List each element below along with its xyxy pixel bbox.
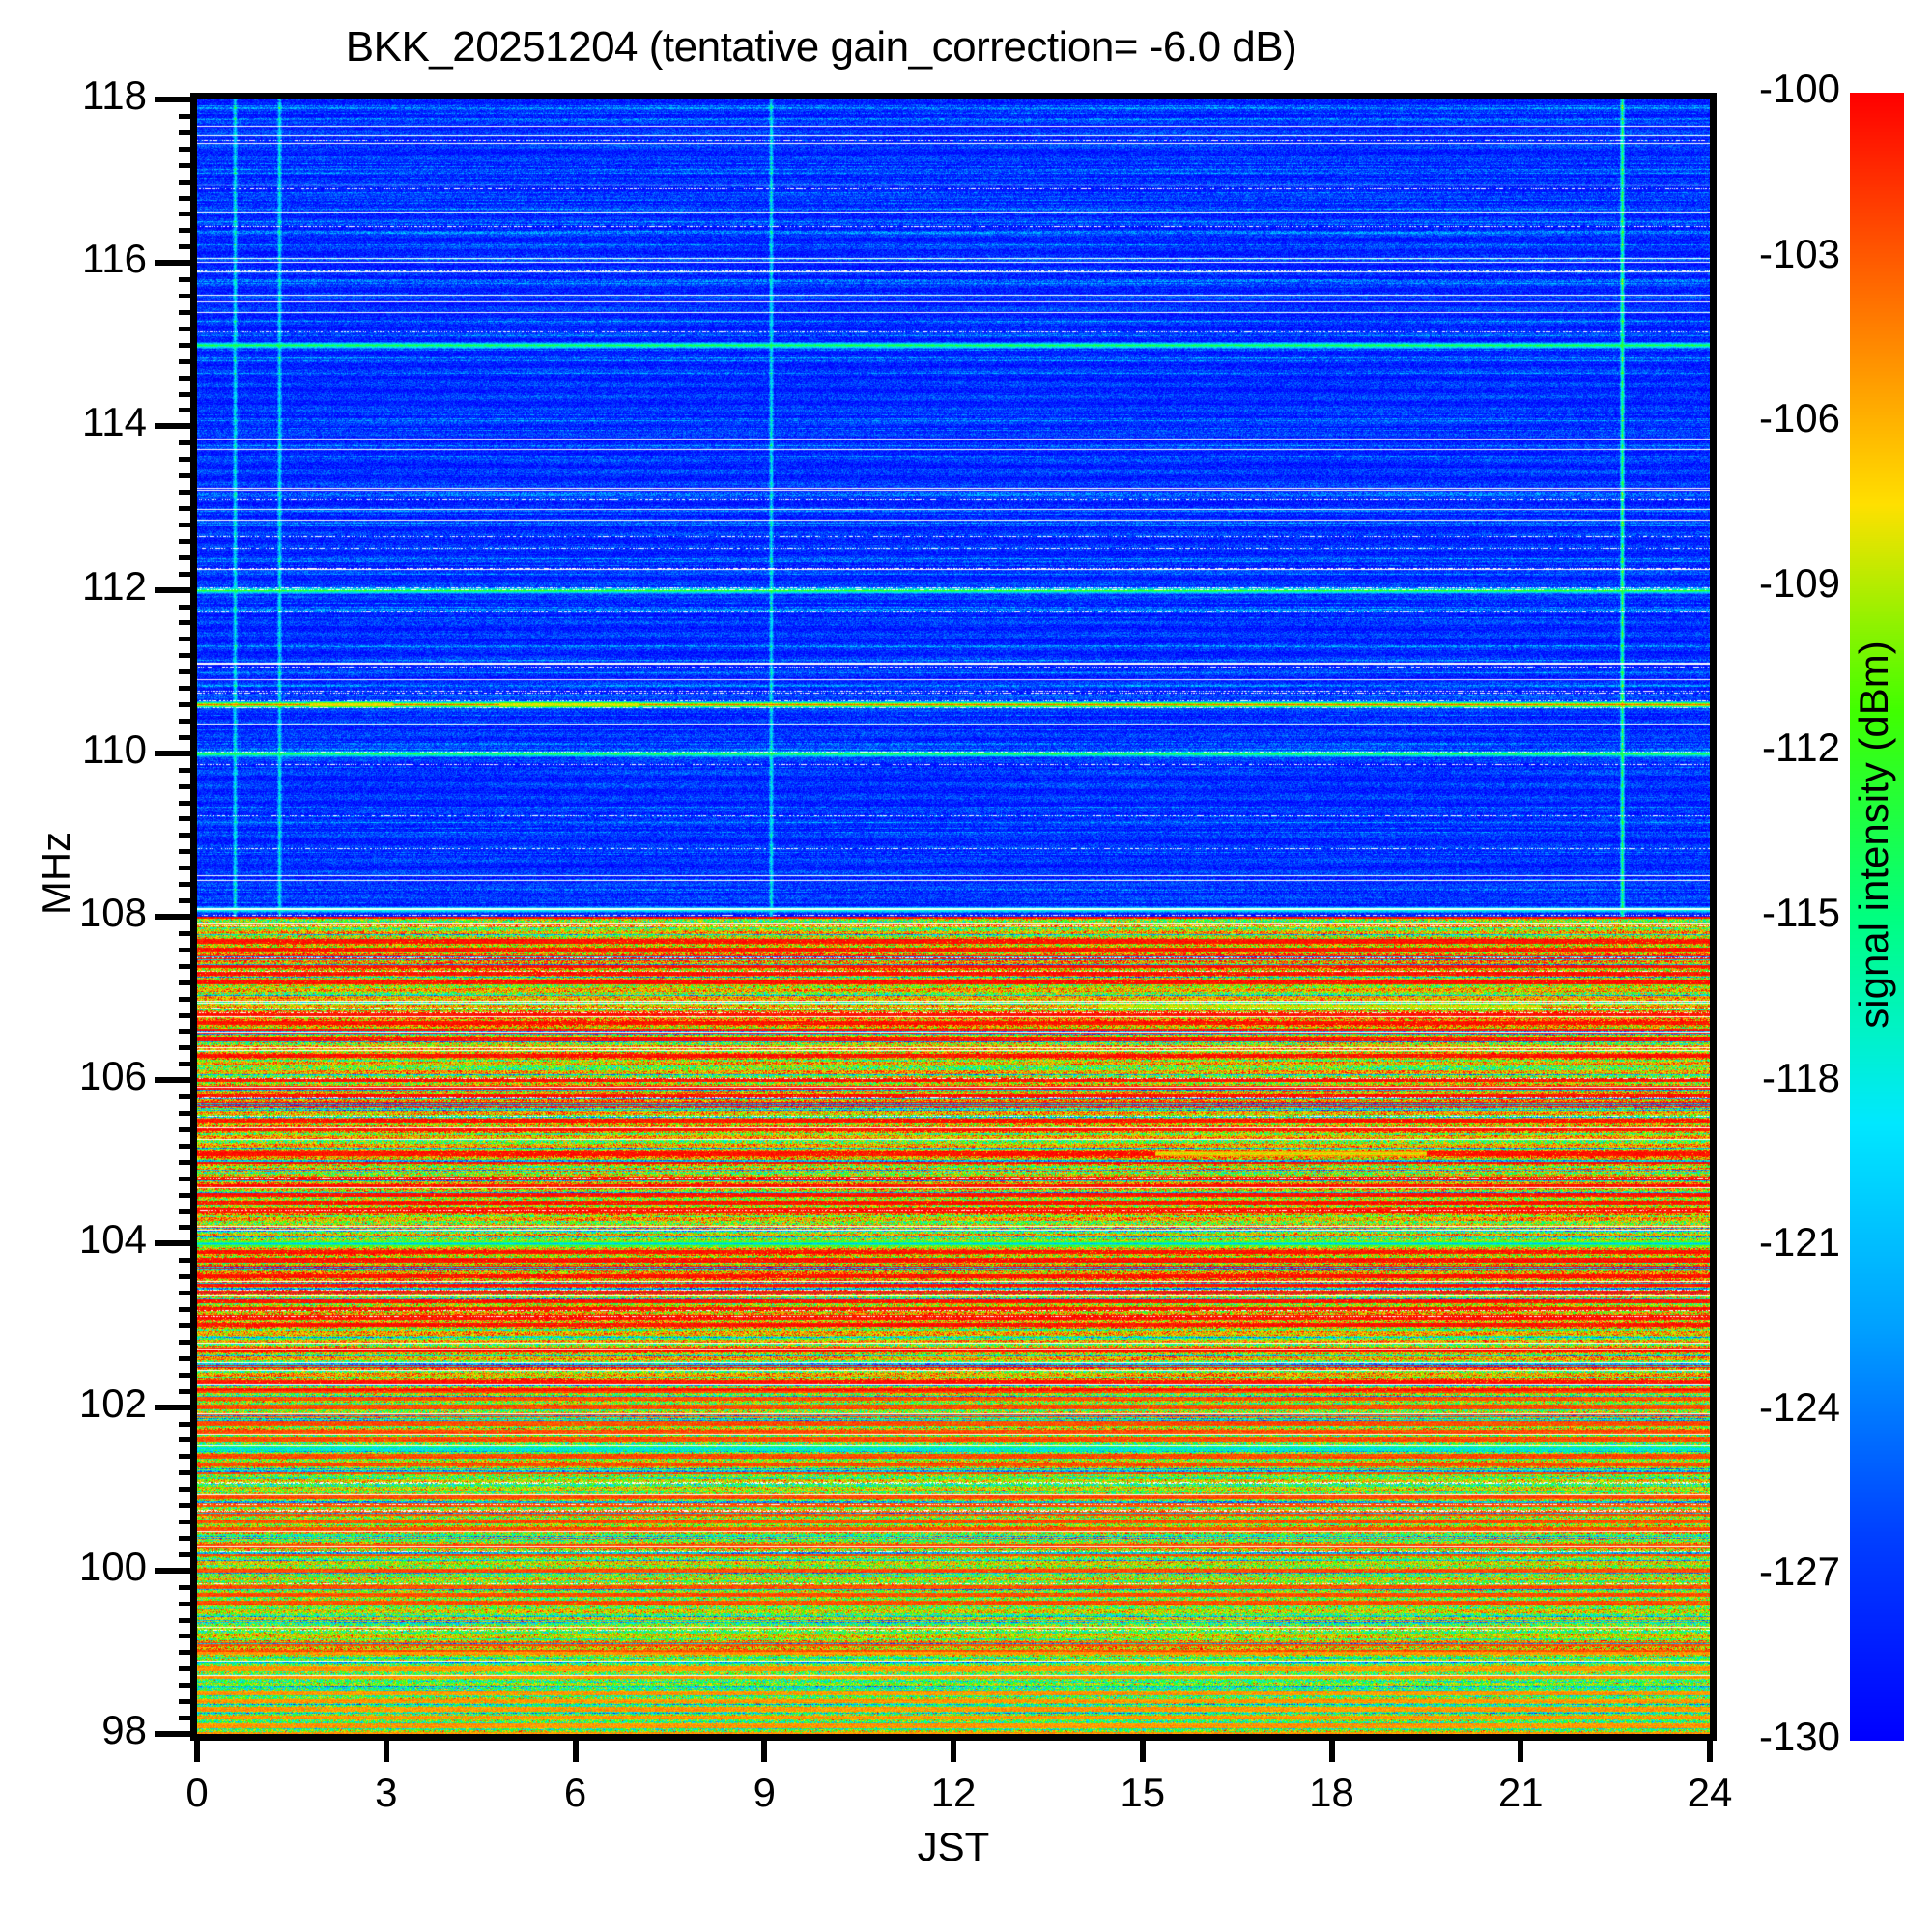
x-tick-label: 6 [498,1770,653,1816]
y-minor-tick-mark [179,327,197,331]
y-minor-tick-mark [179,866,197,870]
y-minor-tick-mark [179,833,197,838]
y-minor-tick-mark [179,1193,197,1198]
colorbar-tick-label: -106 [1657,395,1840,441]
y-minor-tick-mark [179,1454,197,1459]
x-tick-label: 3 [309,1770,464,1816]
y-minor-tick-mark [179,392,197,397]
x-tick-mark [194,1735,200,1762]
y-minor-tick-mark [179,849,197,854]
y-tick-mark [155,751,197,756]
y-minor-tick-mark [179,490,197,495]
y-minor-tick-mark [179,457,197,462]
y-tick-label: 110 [0,726,147,773]
y-minor-tick-mark [179,1716,197,1720]
y-minor-tick-mark [179,768,197,773]
x-tick-mark [1329,1735,1335,1762]
y-minor-tick-mark [179,1274,197,1279]
y-minor-tick-mark [179,473,197,478]
y-minor-tick-mark [179,964,197,969]
x-tick-mark [573,1735,579,1762]
y-minor-tick-mark [179,1225,197,1230]
y-minor-tick-mark [179,948,197,952]
y-minor-tick-mark [179,1291,197,1295]
y-minor-tick-mark [179,408,197,412]
y-minor-tick-mark [179,1618,197,1623]
y-minor-tick-mark [179,163,197,168]
x-tick-label: 0 [120,1770,274,1816]
y-minor-tick-mark [179,1062,197,1066]
y-minor-tick-mark [179,359,197,364]
y-tick-mark [155,1240,197,1246]
y-tick-label: 98 [0,1707,147,1753]
colorbar-tick-label: -103 [1657,231,1840,277]
y-minor-tick-mark [179,931,197,936]
y-minor-tick-mark [179,735,197,740]
y-minor-tick-mark [179,1111,197,1116]
spectrogram-plot-area[interactable] [190,93,1717,1741]
y-minor-tick-mark [179,1602,197,1606]
y-minor-tick-mark [179,1520,197,1524]
y-minor-tick-mark [179,653,197,658]
y-minor-tick-mark [179,1699,197,1704]
colorbar-tick-label: -100 [1657,66,1840,112]
colorbar-tick-label: -118 [1657,1055,1840,1101]
y-minor-tick-mark [179,539,197,544]
y-tick-mark [155,1077,197,1083]
y-minor-tick-mark [179,1683,197,1688]
y-minor-tick-mark [179,212,197,216]
y-minor-tick-mark [179,1503,197,1508]
y-minor-tick-mark [179,1094,197,1099]
colorbar-tick-label: -130 [1657,1714,1840,1760]
y-minor-tick-mark [179,1307,197,1312]
y-minor-tick-mark [179,555,197,560]
y-tick-mark [155,1731,197,1737]
x-tick-mark [1140,1735,1146,1762]
y-minor-tick-mark [179,980,197,985]
y-minor-tick-mark [179,1177,197,1181]
y-tick-label: 104 [0,1216,147,1263]
y-minor-tick-mark [179,1356,197,1361]
y-minor-tick-mark [179,1487,197,1492]
colorbar-tick-label: -115 [1657,890,1840,936]
y-tick-label: 118 [0,72,147,119]
y-tick-label: 112 [0,563,147,610]
y-minor-tick-mark [179,637,197,641]
colorbar-tick-label: -121 [1657,1219,1840,1265]
y-tick-label: 116 [0,236,147,282]
y-minor-tick-mark [179,506,197,511]
x-tick-label: 9 [687,1770,841,1816]
y-minor-tick-mark [179,1340,197,1345]
colorbar-tick-label: -109 [1657,560,1840,607]
colorbar-tick-label: -127 [1657,1548,1840,1595]
y-minor-tick-mark [179,1045,197,1050]
y-minor-tick-mark [179,1013,197,1018]
y-tick-mark [155,914,197,920]
x-tick-mark [761,1735,767,1762]
x-tick-label: 24 [1633,1770,1787,1816]
y-minor-tick-mark [179,114,197,119]
y-tick-mark [155,423,197,429]
y-minor-tick-mark [179,376,197,381]
y-minor-tick-mark [179,294,197,298]
y-minor-tick-mark [179,228,197,233]
y-minor-tick-mark [179,1552,197,1557]
y-minor-tick-mark [179,1373,197,1378]
y-minor-tick-mark [179,605,197,610]
x-axis-title: JST [190,1824,1717,1870]
y-minor-tick-mark [179,196,197,201]
y-minor-tick-mark [179,997,197,1002]
y-minor-tick-mark [179,1160,197,1165]
y-minor-tick-mark [179,1258,197,1263]
y-minor-tick-mark [179,310,197,315]
y-minor-tick-mark [179,816,197,821]
y-minor-tick-mark [179,702,197,707]
colorbar-title: signal intensity (dBm) [1851,603,1897,1066]
y-minor-tick-mark [179,686,197,691]
y-minor-tick-mark [179,801,197,806]
y-tick-label: 100 [0,1544,147,1590]
y-minor-tick-mark [179,343,197,348]
x-tick-mark [1518,1735,1523,1762]
y-tick-mark [155,260,197,266]
y-minor-tick-mark [179,147,197,152]
y-minor-tick-mark [179,898,197,903]
y-minor-tick-mark [179,1650,197,1655]
y-minor-tick-mark [179,440,197,445]
x-tick-label: 15 [1065,1770,1220,1816]
y-minor-tick-mark [179,620,197,625]
y-tick-label: 114 [0,399,147,445]
y-tick-mark [155,1405,197,1410]
y-minor-tick-mark [179,784,197,789]
colorbar-tick-label: -124 [1657,1384,1840,1431]
y-axis-title: MHz [33,767,79,980]
x-tick-mark [384,1735,389,1762]
y-minor-tick-mark [179,1666,197,1671]
colorbar-tick-label: -112 [1657,724,1840,771]
y-minor-tick-mark [179,1127,197,1132]
y-minor-tick-mark [179,1029,197,1034]
y-minor-tick-mark [179,1536,197,1541]
spectrogram-page: BKK_20251204 (tentative gain_correction=… [0,0,1932,1932]
y-minor-tick-mark [179,180,197,185]
y-minor-tick-mark [179,1585,197,1590]
y-minor-tick-mark [179,572,197,577]
y-minor-tick-mark [179,719,197,724]
page-title: BKK_20251204 (tentative gain_correction=… [0,23,1642,71]
y-minor-tick-mark [179,1634,197,1638]
y-minor-tick-mark [179,1470,197,1475]
y-minor-tick-mark [179,1437,197,1442]
y-tick-label: 102 [0,1380,147,1427]
y-minor-tick-mark [179,1422,197,1427]
y-minor-tick-mark [179,669,197,674]
spectrogram-image [197,99,1710,1734]
x-tick-mark [951,1735,956,1762]
y-minor-tick-mark [179,1389,197,1394]
y-minor-tick-mark [179,882,197,887]
y-minor-tick-mark [179,523,197,527]
y-minor-tick-mark [179,244,197,249]
y-minor-tick-mark [179,130,197,135]
y-minor-tick-mark [179,1323,197,1328]
x-tick-label: 21 [1443,1770,1598,1816]
y-tick-mark [155,587,197,593]
y-tick-mark [155,97,197,102]
y-minor-tick-mark [179,1144,197,1149]
y-tick-mark [155,1568,197,1574]
y-tick-label: 106 [0,1053,147,1099]
y-minor-tick-mark [179,1209,197,1214]
x-tick-label: 18 [1255,1770,1409,1816]
x-tick-label: 12 [876,1770,1031,1816]
y-minor-tick-mark [179,277,197,282]
